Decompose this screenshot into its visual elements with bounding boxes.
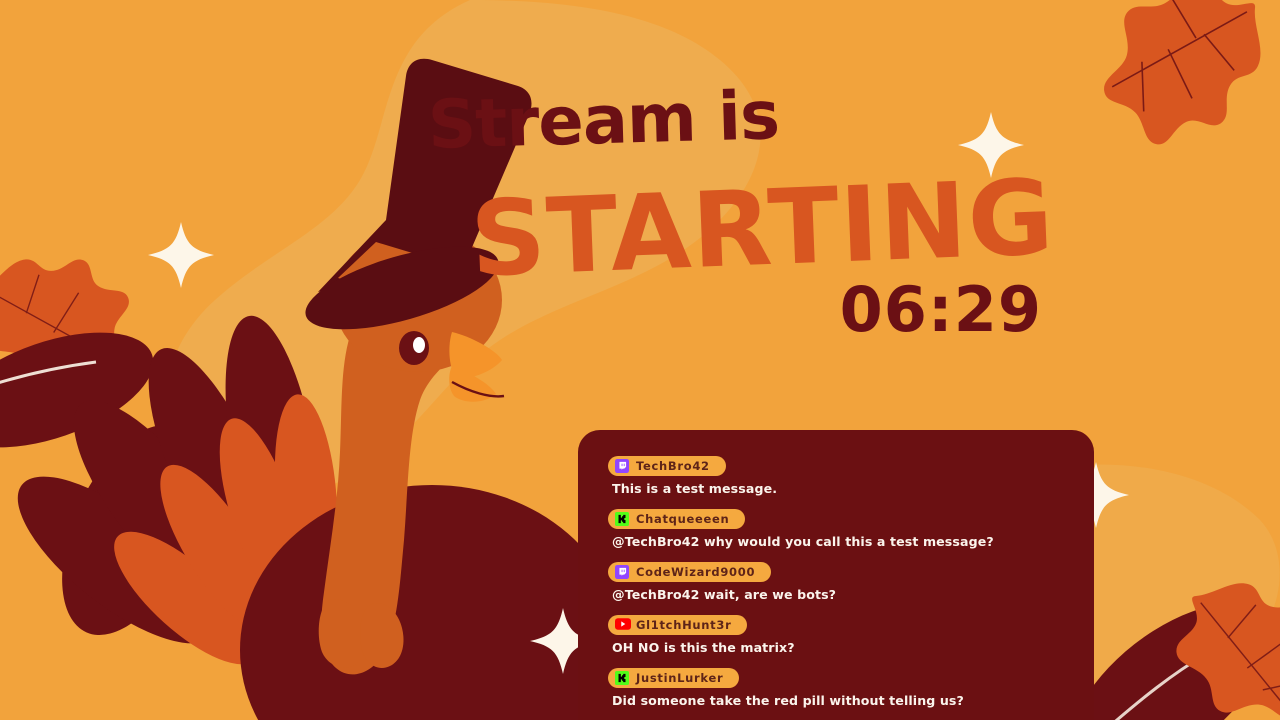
kick-icon <box>615 671 629 685</box>
youtube-badge-icon <box>615 618 629 632</box>
chat-message-text: This is a test message. <box>612 481 1070 496</box>
chat-username: Gl1tchHunt3r <box>636 618 731 632</box>
live-chat-overlay[interactable]: TechBro42This is a test message.Chatquee… <box>578 430 1094 720</box>
twitch-badge-icon <box>615 459 629 473</box>
headline-block: Stream is STARTING 06:29 <box>420 92 1060 341</box>
chat-message: JustinLurkerDid someone take the red pil… <box>608 668 1070 708</box>
kick-badge-icon <box>615 671 629 685</box>
twitch-badge-icon <box>615 565 629 579</box>
twitch-icon <box>615 459 629 473</box>
chat-username-pill[interactable]: JustinLurker <box>608 668 739 688</box>
headline-line-2: STARTING <box>418 165 1056 293</box>
headline-line-1: Stream is <box>427 74 1061 159</box>
chat-username-pill[interactable]: TechBro42 <box>608 456 726 476</box>
chat-message: TechBro42This is a test message. <box>608 456 1070 496</box>
chat-username-pill[interactable]: Gl1tchHunt3r <box>608 615 747 635</box>
chat-username: Chatqueeeen <box>636 512 729 526</box>
chat-message: Gl1tchHunt3rOH NO is this the matrix? <box>608 615 1070 655</box>
stream-starting-screen: Stream is STARTING 06:29 TechBro42This i… <box>0 0 1280 720</box>
chat-message-list[interactable]: TechBro42This is a test message.Chatquee… <box>608 456 1070 708</box>
chat-message: Chatqueeeen@TechBro42 why would you call… <box>608 509 1070 549</box>
chat-message-text: @TechBro42 why would you call this a tes… <box>612 534 1070 549</box>
chat-message-text: Did someone take the red pill without te… <box>612 693 1070 708</box>
kick-icon <box>615 512 629 526</box>
youtube-icon <box>615 618 631 630</box>
kick-badge-icon <box>615 512 629 526</box>
chat-message-text: @TechBro42 wait, are we bots? <box>612 587 1070 602</box>
chat-message-text: OH NO is this the matrix? <box>612 640 1070 655</box>
chat-username-pill[interactable]: Chatqueeeen <box>608 509 745 529</box>
chat-username-pill[interactable]: CodeWizard9000 <box>608 562 771 582</box>
chat-username: TechBro42 <box>636 459 710 473</box>
chat-username: CodeWizard9000 <box>636 565 755 579</box>
chat-username: JustinLurker <box>636 671 723 685</box>
chat-message: CodeWizard9000@TechBro42 wait, are we bo… <box>608 562 1070 602</box>
twitch-icon <box>615 565 629 579</box>
